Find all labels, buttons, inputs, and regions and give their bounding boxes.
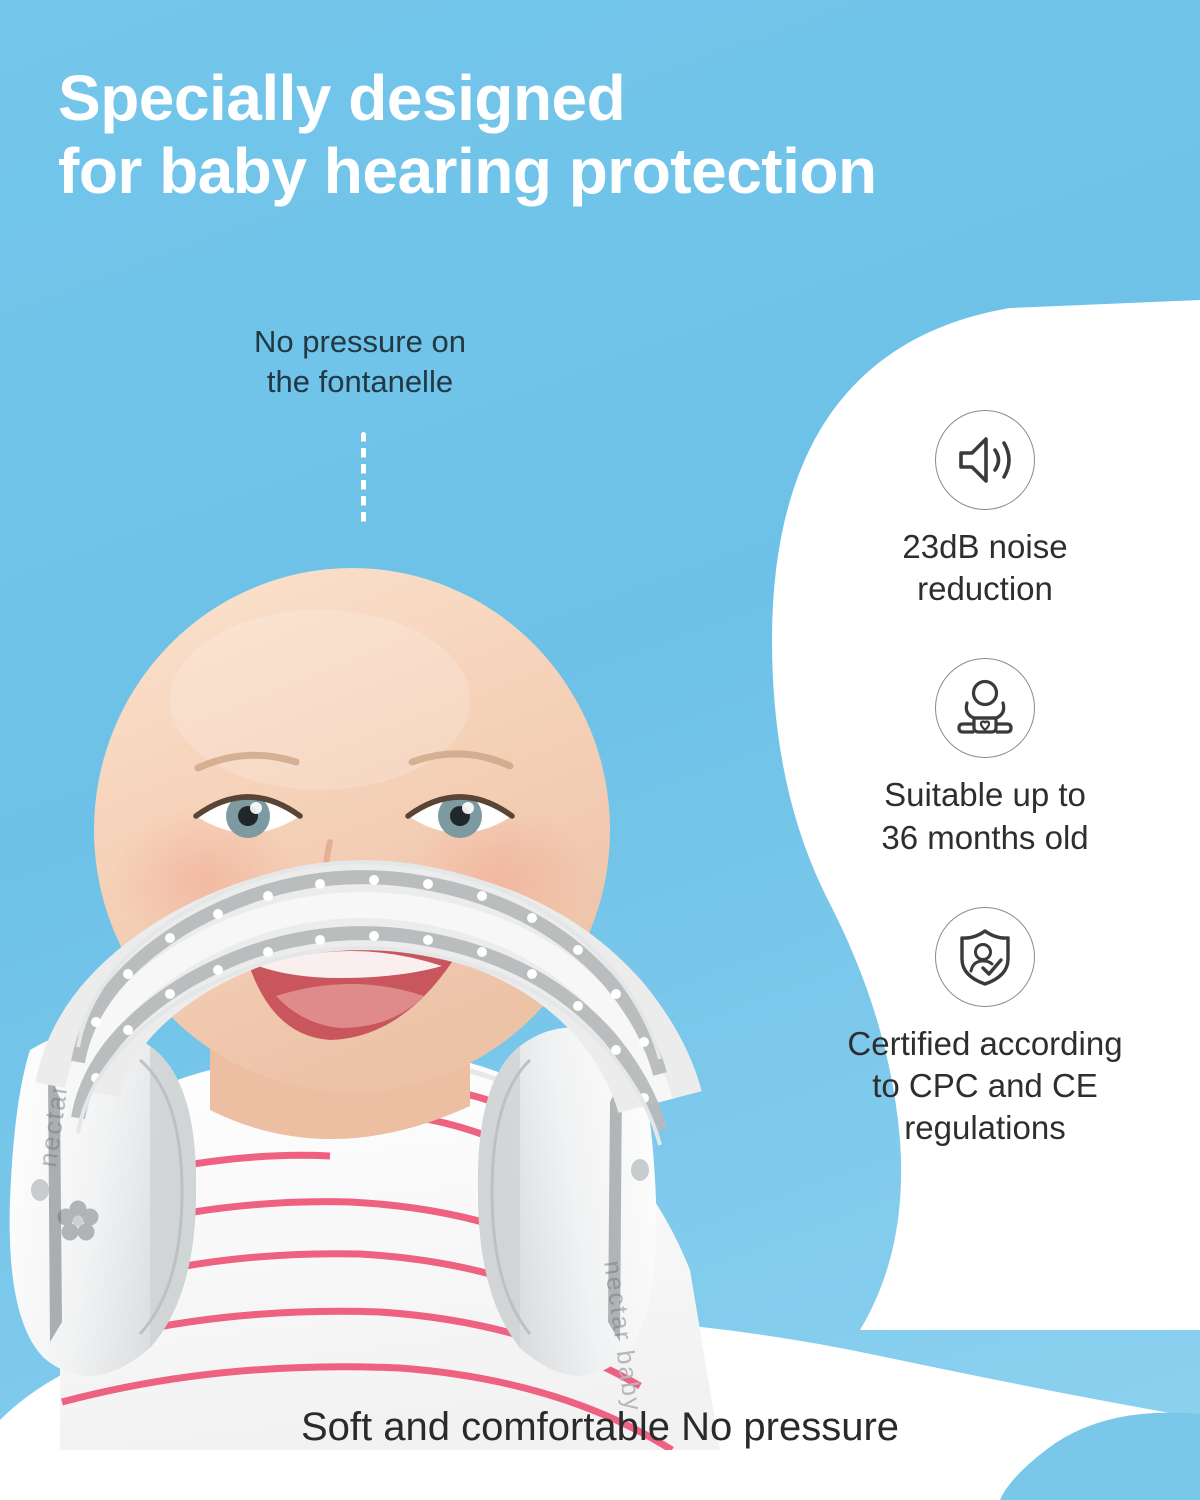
bottom-caption: Soft and comfortable No pressure bbox=[0, 1405, 1200, 1450]
feature-text-2: Suitable up to 36 months old bbox=[770, 774, 1200, 858]
feature-icon-ring-2 bbox=[935, 658, 1035, 758]
feature-text-3: Certified according to CPC and CE regula… bbox=[770, 1023, 1200, 1150]
headline-line-2: for baby hearing protection bbox=[58, 135, 1168, 208]
feature-certification: Certified according to CPC and CE regula… bbox=[770, 907, 1200, 1150]
feature-noise-reduction: 23dB noise reduction bbox=[770, 410, 1200, 610]
feature-text-1: 23dB noise reduction bbox=[770, 526, 1200, 610]
speaker-volume-icon bbox=[955, 432, 1015, 488]
fontanelle-callout: No pressure on the fontanelle bbox=[150, 322, 570, 401]
feature-icon-ring-3 bbox=[935, 907, 1035, 1007]
shield-person-check-icon bbox=[956, 926, 1014, 988]
feature-icon-ring-1 bbox=[935, 410, 1035, 510]
headline-line-1: Specially designed bbox=[58, 62, 625, 134]
page-title: Specially designed for baby hearing prot… bbox=[58, 62, 1168, 208]
feature-list: 23dB noise reduction Suitable up to 36 m… bbox=[770, 410, 1200, 1172]
baby-product-photo: nectar nectar baby bbox=[0, 450, 820, 1450]
feature-age-range: Suitable up to 36 months old bbox=[770, 658, 1200, 858]
sitting-baby-icon bbox=[954, 678, 1016, 738]
callout-dotted-connector bbox=[361, 432, 366, 528]
